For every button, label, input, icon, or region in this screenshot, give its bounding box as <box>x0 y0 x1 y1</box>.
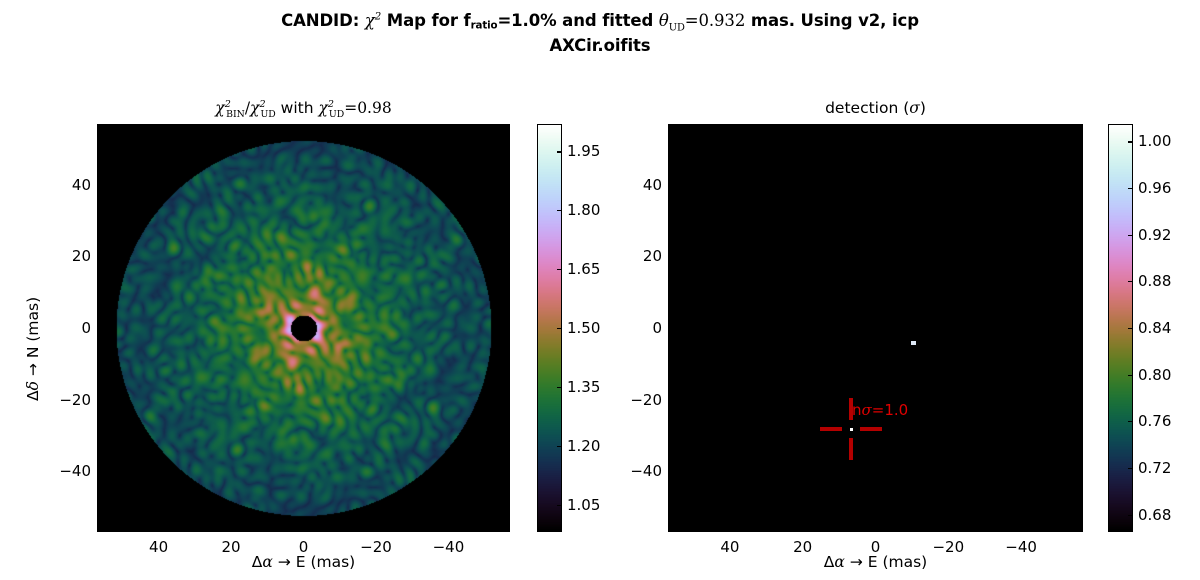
delta-symbol: Δ <box>252 553 263 571</box>
east-letter: E <box>296 553 306 571</box>
chi-bin-subscript: BIN <box>226 109 245 120</box>
colorbar-tick <box>557 210 562 211</box>
detection-word: detection ( <box>825 99 909 117</box>
suptitle-mid2: =1.0% and fitted <box>497 11 658 30</box>
chi2-map-axes[interactable] <box>97 124 510 532</box>
colorbar-tick-label: 0.92 <box>1138 226 1171 244</box>
colorbar-tick-label: 0.72 <box>1138 459 1171 477</box>
x-axis-tick <box>159 528 160 532</box>
colorbar-tick <box>557 328 562 329</box>
y-axis-tick <box>97 471 101 472</box>
y-axis-tick-right <box>506 471 510 472</box>
x-axis-tick-top <box>304 124 305 128</box>
east-letter: E <box>868 553 878 571</box>
y-axis-tick <box>97 256 101 257</box>
north-letter: N <box>24 347 42 359</box>
colorbar-tick-label: 0.88 <box>1138 272 1171 290</box>
y-axis-tick-label: 40 <box>55 176 91 194</box>
colorbar-tick-label: 1.35 <box>567 378 600 396</box>
chi2-map-title: χ2BIN/χ2UD with χ2UD=0.98 <box>97 99 510 117</box>
sigma-symbol: σ <box>909 99 920 117</box>
colorbar-tick-label: 0.84 <box>1138 319 1171 337</box>
x-axis-tick <box>231 528 232 532</box>
suptitle-mid: Map for f <box>381 11 470 30</box>
y-axis-tick <box>668 185 672 186</box>
unit-label: (mas) <box>882 553 927 571</box>
arrow-symbol: → <box>278 553 291 571</box>
colorbar-tick-label: 1.65 <box>567 260 600 278</box>
x-axis-tick-top <box>159 124 160 128</box>
colorbar-tick <box>557 151 562 152</box>
unit-label: (mas) <box>24 297 42 342</box>
colorbar-tick <box>1128 235 1133 236</box>
colorbar-tick <box>1128 421 1133 422</box>
crosshair-center-point <box>850 428 853 431</box>
chi2-map-xlabel: Δα → E (mas) <box>97 553 510 571</box>
y-axis-tick <box>97 185 101 186</box>
y-axis-tick-label: −40 <box>55 462 91 480</box>
y-axis-tick <box>668 256 672 257</box>
x-axis-tick-top <box>376 124 377 128</box>
y-axis-tick-right <box>1079 328 1083 329</box>
colorbar-tick-label: 1.80 <box>567 201 600 219</box>
y-axis-tick-right <box>1079 185 1083 186</box>
y-axis-tick-right <box>1079 256 1083 257</box>
theta-symbol: θ <box>659 11 669 30</box>
y-axis-tick-right <box>1079 400 1083 401</box>
colorbar-tick <box>557 387 562 388</box>
y-axis-tick-right <box>1079 471 1083 472</box>
colorbar-tick <box>1128 515 1133 516</box>
fratio-subscript: ratio <box>471 21 498 32</box>
theta-subscript: UD <box>669 22 685 33</box>
arrow-symbol: → <box>850 553 863 571</box>
chi-ud-value: =0.98 <box>344 99 392 117</box>
colorbar-tick-label: 1.20 <box>567 437 600 455</box>
alpha-symbol: α <box>262 553 272 571</box>
delta-symbol: Δ <box>24 390 42 401</box>
y-axis-tick <box>97 328 101 329</box>
colorbar-tick <box>1128 375 1133 376</box>
x-axis-tick-top <box>876 124 877 128</box>
colorbar-tick-label: 0.80 <box>1138 366 1171 384</box>
chi-symbol: χ <box>365 11 375 30</box>
unit-label: (mas) <box>310 553 355 571</box>
x-axis-tick-top <box>730 124 731 128</box>
detection-map-xlabel: Δα → E (mas) <box>668 553 1083 571</box>
suptitle-suffix: mas. Using v2, icp <box>745 11 919 30</box>
y-axis-tick-label: 20 <box>55 247 91 265</box>
x-axis-tick <box>304 528 305 532</box>
y-axis-tick <box>668 328 672 329</box>
x-axis-tick <box>803 528 804 532</box>
sigma-symbol: σ <box>862 401 872 419</box>
colorbar-tick-label: 1.95 <box>567 142 600 160</box>
y-axis-tick-right <box>506 328 510 329</box>
figure-suptitle: CANDID: χ2 Map for fratio=1.0% and fitte… <box>0 8 1200 58</box>
detection-map-title: detection (σ) <box>668 99 1083 117</box>
colorbar-tick <box>557 505 562 506</box>
x-axis-tick <box>1021 528 1022 532</box>
detection-sigma-annotation: nσ=1.0 <box>852 401 908 419</box>
colorbar-tick <box>1128 188 1133 189</box>
x-axis-tick-top <box>448 124 449 128</box>
y-axis-tick <box>668 400 672 401</box>
y-axis-tick-right <box>506 185 510 186</box>
detection-map-axes[interactable]: nσ=1.0 <box>668 124 1083 532</box>
sigma-value: =1.0 <box>872 401 908 419</box>
colorbar-tick-label: 1.00 <box>1138 132 1171 150</box>
colorbar-tick-label: 1.50 <box>567 319 600 337</box>
crosshair-left-arm <box>820 427 842 431</box>
paren-close: ) <box>920 99 926 117</box>
chi-ud-subscript: UD <box>329 109 344 120</box>
colorbar-tick <box>1128 281 1133 282</box>
title-with-word: with <box>276 99 319 117</box>
x-axis-tick <box>948 528 949 532</box>
y-axis-tick <box>668 471 672 472</box>
suptitle-filename: AXCir.oifits <box>0 33 1200 58</box>
x-axis-tick <box>730 528 731 532</box>
colorbar-tick-label: 0.96 <box>1138 179 1171 197</box>
colorbar-tick-label: 0.76 <box>1138 412 1171 430</box>
suptitle-prefix: CANDID: <box>281 11 365 30</box>
x-axis-tick <box>376 528 377 532</box>
chi2-map-ylabel: Δδ → N (mas) <box>24 297 42 401</box>
chi-symbol: χ <box>319 99 328 117</box>
y-axis-tick-label: 0 <box>626 319 662 337</box>
alpha-symbol: α <box>834 553 844 571</box>
x-axis-tick-top <box>1021 124 1022 128</box>
chi-ud-subscript: UD <box>260 109 275 120</box>
delta-lc-symbol: δ <box>24 381 42 390</box>
y-axis-tick-label: −20 <box>55 391 91 409</box>
theta-value: =0.932 <box>685 11 745 30</box>
colorbar-tick <box>1128 141 1133 142</box>
colorbar-tick <box>557 269 562 270</box>
y-axis-tick-label: 0 <box>55 319 91 337</box>
y-axis-tick-right <box>506 256 510 257</box>
arrow-symbol: → <box>24 363 42 376</box>
x-axis-tick-top <box>803 124 804 128</box>
y-axis-tick <box>97 400 101 401</box>
colorbar-tick <box>1128 328 1133 329</box>
x-axis-tick-top <box>948 124 949 128</box>
detection-bright-pixel <box>911 341 916 345</box>
delta-symbol: Δ <box>824 553 835 571</box>
y-axis-tick-label: 20 <box>626 247 662 265</box>
chi-symbol: χ <box>215 99 224 117</box>
x-axis-tick <box>448 528 449 532</box>
y-axis-tick-right <box>506 400 510 401</box>
y-axis-tick-label: 40 <box>626 176 662 194</box>
colorbar-tick <box>1128 468 1133 469</box>
x-axis-tick <box>876 528 877 532</box>
colorbar-tick-label: 0.68 <box>1138 506 1171 524</box>
y-axis-tick-label: −20 <box>626 391 662 409</box>
colorbar-tick <box>557 446 562 447</box>
figure-canvas: CANDID: χ2 Map for fratio=1.0% and fitte… <box>0 0 1200 580</box>
crosshair-right-arm <box>860 427 882 431</box>
crosshair-down-arm <box>849 438 853 460</box>
colorbar-tick-label: 1.05 <box>567 496 600 514</box>
n-letter: n <box>852 401 862 419</box>
x-axis-tick-top <box>231 124 232 128</box>
y-axis-tick-label: −40 <box>626 462 662 480</box>
